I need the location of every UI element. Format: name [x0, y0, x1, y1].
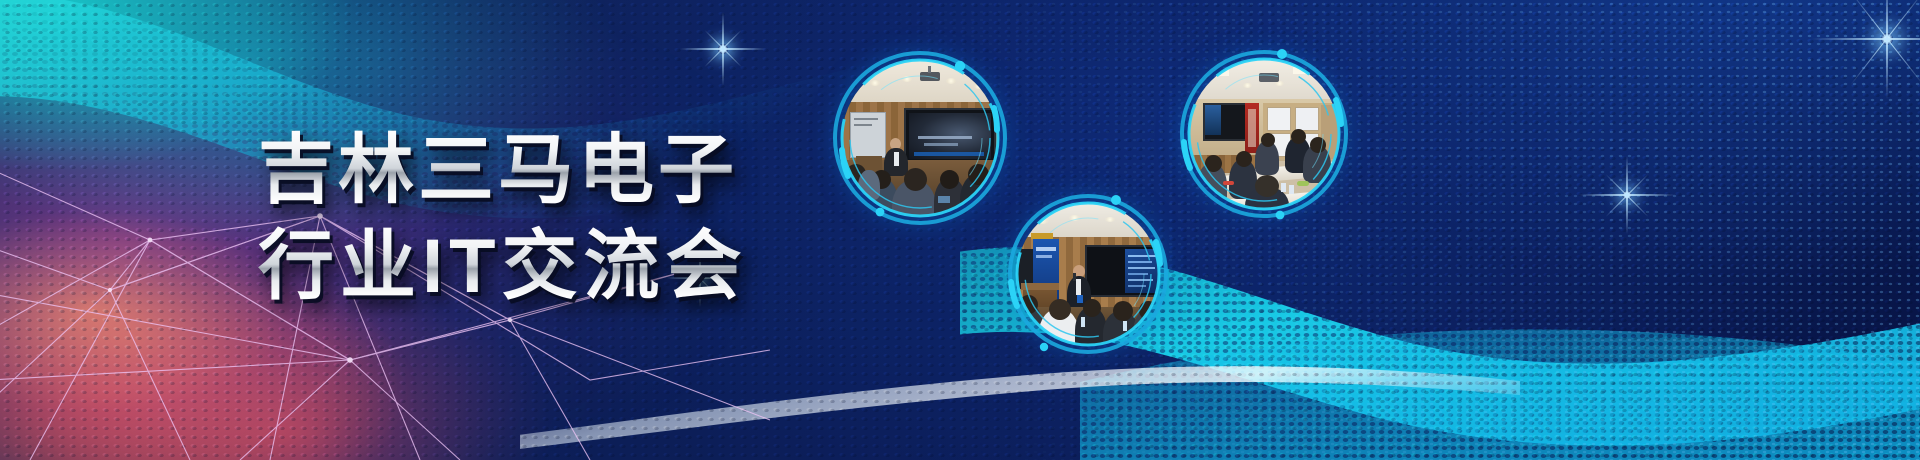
- headline-block: 吉林三马电子 行业IT交流会: [258, 128, 818, 310]
- photo-lecture-hall[interactable]: [828, 46, 1012, 230]
- photo-training-room-ring: [1176, 46, 1352, 222]
- photo-speaker-mic[interactable]: [1004, 190, 1172, 358]
- headline-line-2: 行业IT交流会: [258, 224, 818, 310]
- photo-speaker-mic-ring: [1004, 190, 1172, 358]
- photo-lecture-hall-ring: [828, 46, 1012, 230]
- event-banner: 吉林三马电子 行业IT交流会: [0, 0, 1920, 460]
- headline-line-1: 吉林三马电子: [258, 128, 818, 214]
- photo-training-room[interactable]: [1176, 46, 1352, 222]
